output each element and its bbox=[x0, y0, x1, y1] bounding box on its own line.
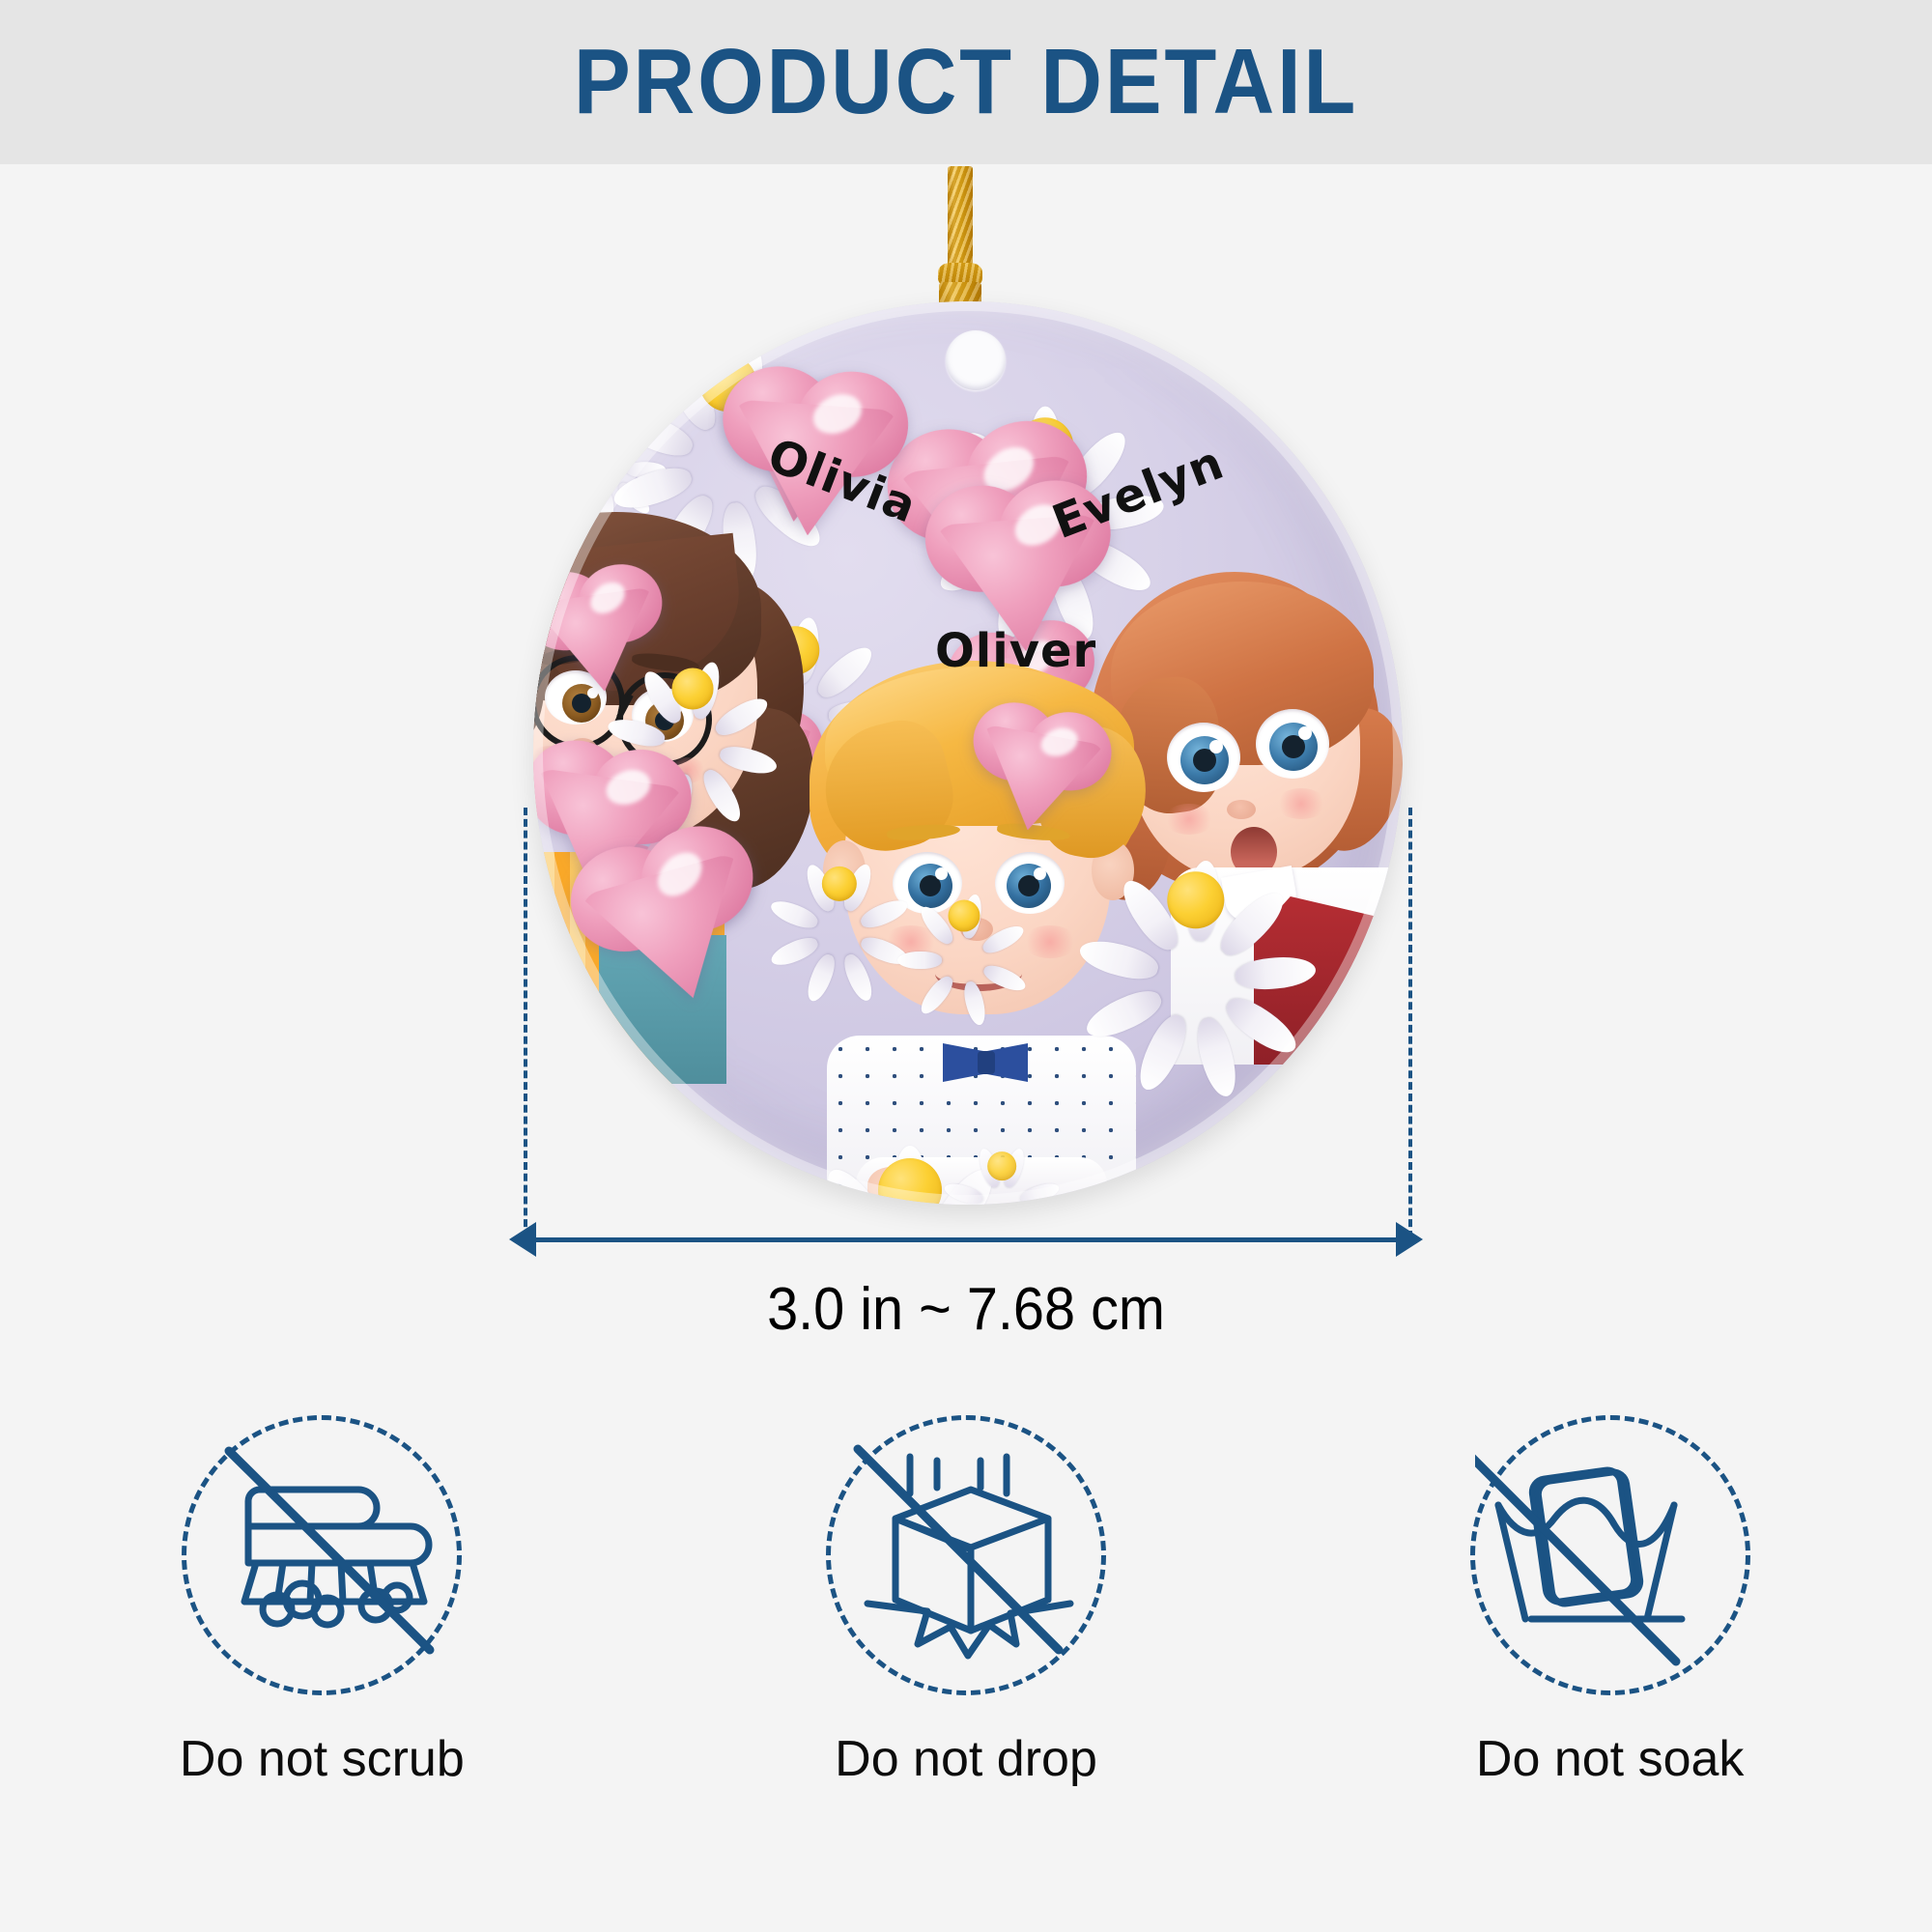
dimension-line bbox=[526, 1237, 1406, 1242]
dimension-guide-right bbox=[1408, 808, 1412, 1238]
heart-icon bbox=[533, 553, 677, 707]
dimension-arrow-right-icon bbox=[1396, 1222, 1423, 1257]
daisy-icon bbox=[786, 831, 893, 937]
hanging-hole bbox=[946, 330, 1006, 390]
daisy-icon bbox=[958, 1122, 1045, 1205]
care-item-drop: Do not drop bbox=[644, 1415, 1289, 1840]
name-text-oliver: Oliver bbox=[935, 624, 1096, 678]
page-title: PRODUCT DETAIL bbox=[77, 29, 1855, 135]
daisy-icon bbox=[916, 867, 1012, 964]
dimension-guide-left bbox=[524, 808, 527, 1238]
no-drop-box-icon bbox=[826, 1415, 1106, 1695]
no-scrub-brush-icon bbox=[182, 1415, 462, 1695]
ornament-product-image: Olivia Evelyn Oliver bbox=[533, 301, 1403, 1205]
dimension-label: 3.0 in ~ 7.68 cm bbox=[68, 1275, 1864, 1344]
care-item-soak: Do not soak bbox=[1288, 1415, 1932, 1840]
care-label-drop: Do not drop bbox=[835, 1730, 1097, 1788]
dimension-arrow-left-icon bbox=[509, 1222, 536, 1257]
product-detail-page: PRODUCT DETAIL bbox=[0, 0, 1932, 1932]
care-label-soak: Do not soak bbox=[1476, 1730, 1745, 1788]
care-label-scrub: Do not scrub bbox=[180, 1730, 465, 1788]
care-item-scrub: Do not scrub bbox=[0, 1415, 644, 1840]
no-soak-tub-icon bbox=[1470, 1415, 1750, 1695]
care-instructions-row: Do not scrub Do not drop bbox=[0, 1415, 1932, 1840]
name-label-oliver: Oliver bbox=[935, 624, 1096, 678]
